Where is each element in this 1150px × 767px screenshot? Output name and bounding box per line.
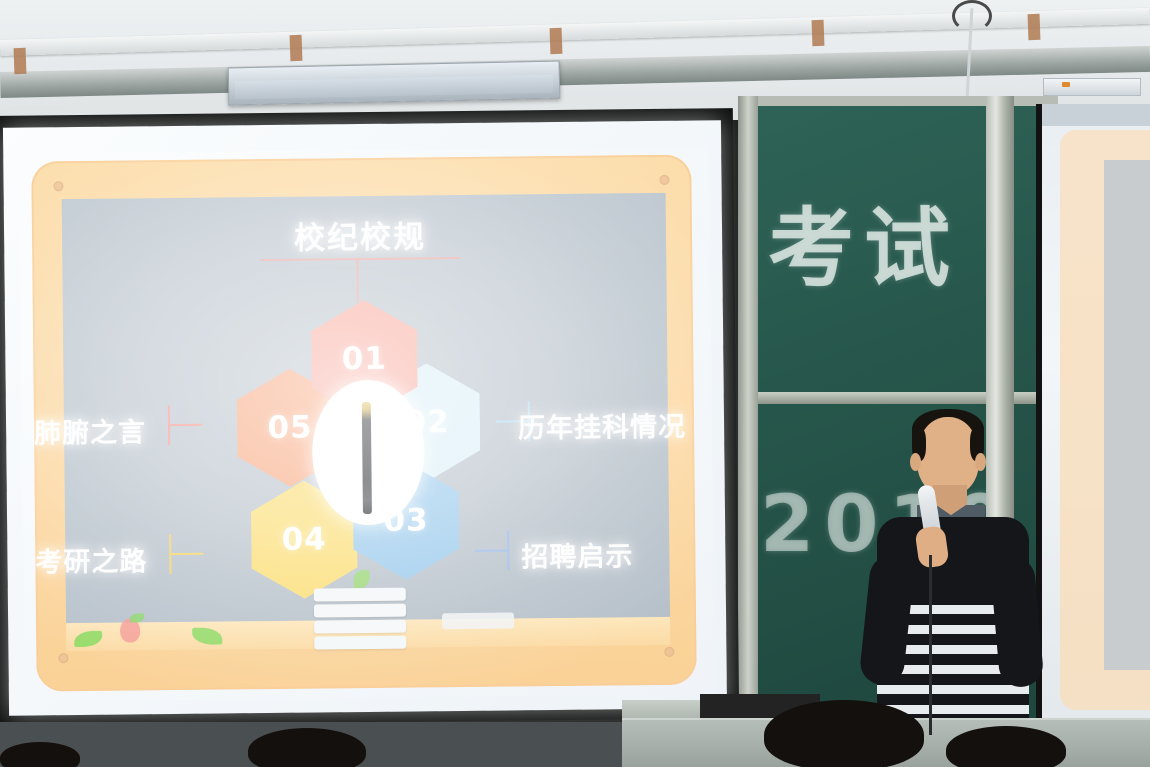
secondary-screen-header — [1042, 104, 1150, 126]
audience-head — [248, 728, 366, 767]
projected-slide: 校纪校规 05 04 02 03 01 肺腑之言 — [19, 146, 715, 701]
rail-bracket — [550, 28, 563, 54]
label-right-top: 历年挂科情况 — [518, 405, 686, 446]
microphone-cable — [929, 555, 932, 735]
classroom-photo: 考试 2010 校纪校规 05 04 02 03 01 — [0, 0, 1150, 767]
wall-mullion-left — [738, 96, 758, 736]
rail-bracket — [290, 35, 303, 61]
secondary-screen-slide-inner — [1104, 160, 1150, 670]
audience-head — [0, 742, 80, 767]
audience-head — [946, 726, 1066, 767]
speaker-person — [855, 405, 1045, 735]
rail-bracket — [812, 20, 825, 46]
speaker-ear — [975, 453, 986, 471]
eraser-icon — [442, 612, 514, 629]
frame-screw — [659, 175, 669, 185]
frame-screw — [58, 653, 68, 663]
label-left-bottom: 考研之路 — [35, 539, 147, 579]
frame-screw — [664, 647, 674, 657]
sweater-stripe — [877, 685, 1029, 694]
device-indicator-light — [1062, 82, 1070, 87]
audience-head — [764, 700, 924, 767]
book-stack-icon — [314, 580, 407, 661]
sprout-icon — [354, 570, 370, 588]
speaker-ear — [910, 453, 921, 471]
wall-mounted-device — [1043, 78, 1141, 96]
pen-icon — [362, 402, 372, 514]
rail-bracket — [1028, 14, 1041, 40]
rail-bracket — [14, 48, 27, 74]
hexagon-01-number: 01 — [342, 341, 388, 377]
speaker-head — [917, 417, 979, 495]
label-right-bottom: 招聘启示 — [521, 534, 633, 574]
frame-screw — [53, 181, 63, 191]
hexagon-04-number: 04 — [281, 521, 327, 557]
hexagon-05-number: 05 — [267, 410, 313, 446]
label-left-top: 肺腑之言 — [34, 410, 146, 450]
slide-title: 校纪校规 — [250, 211, 470, 258]
chalkboard-title-text: 考试 — [768, 178, 960, 303]
